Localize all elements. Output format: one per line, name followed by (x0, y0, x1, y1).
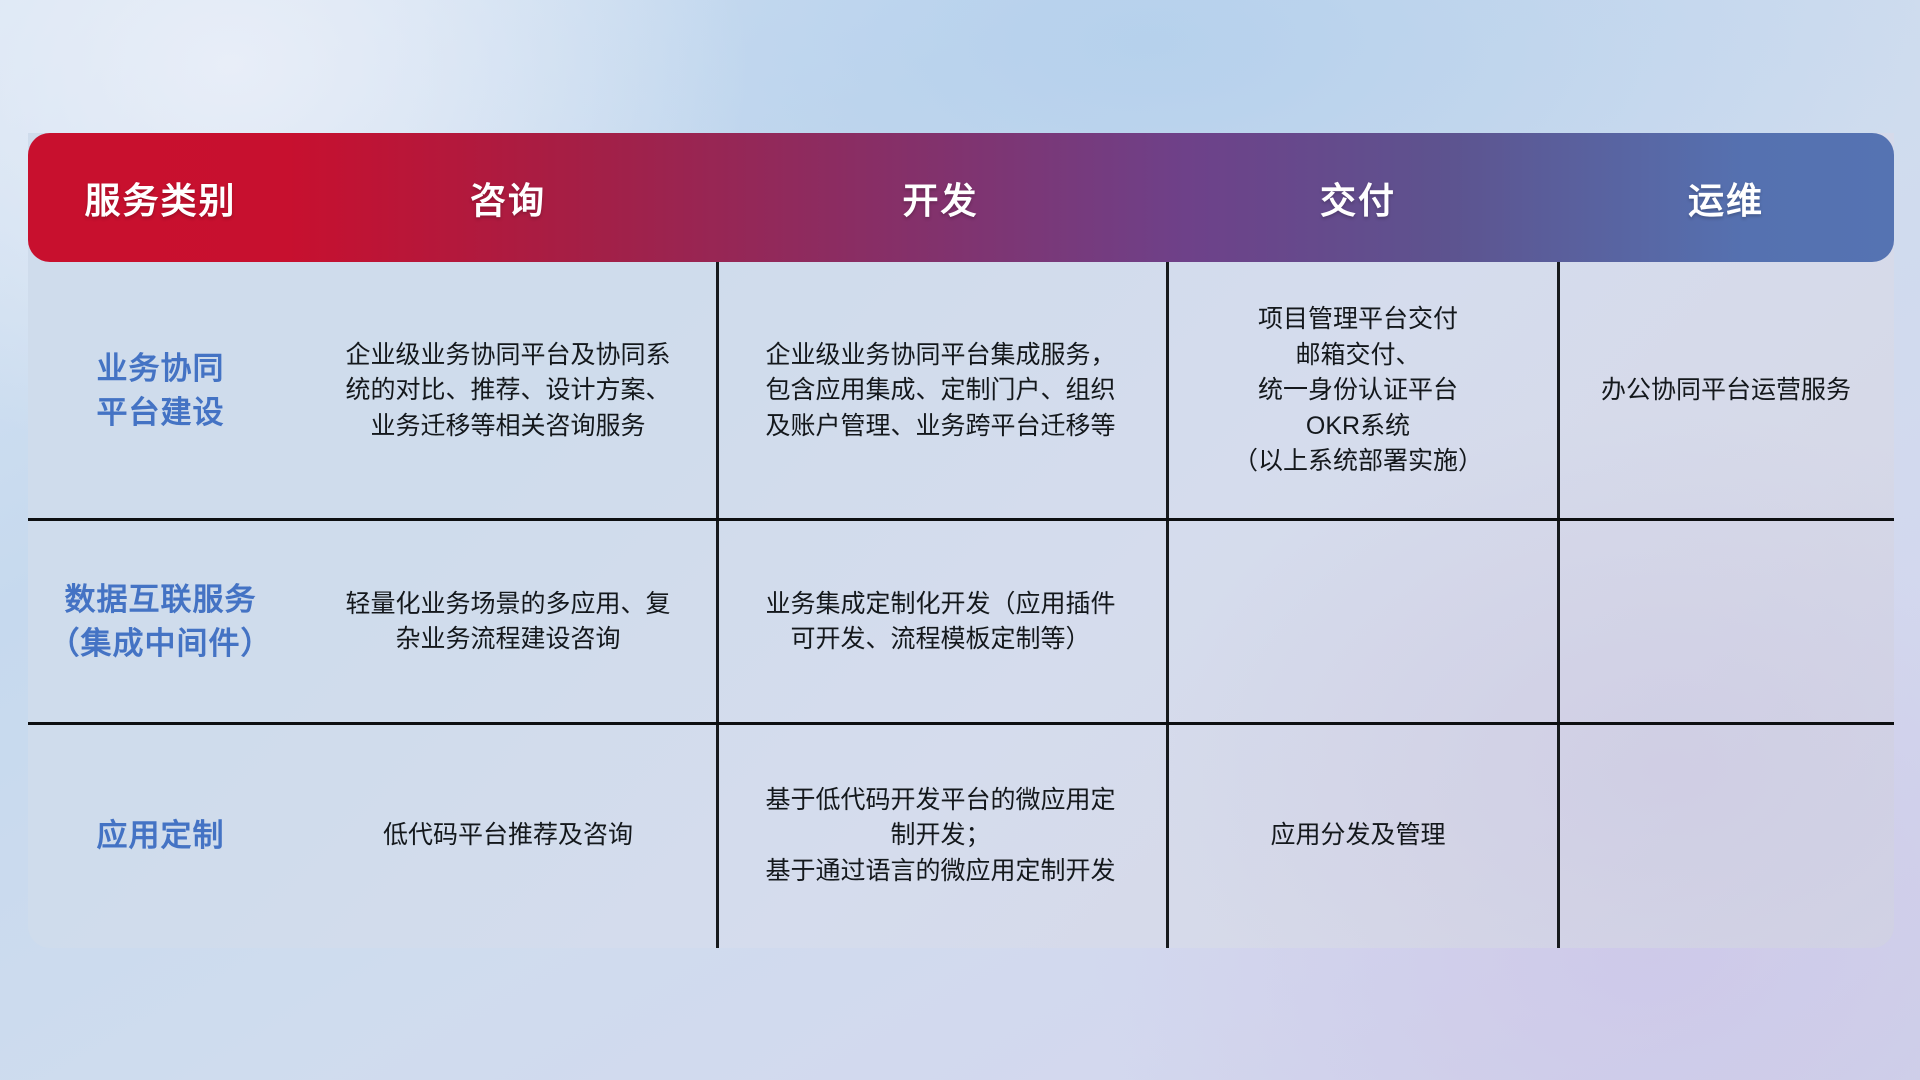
table-row: 应用定制 低代码平台推荐及咨询 基于低代码开发平台的微应用定 制开发； 基于通过… (28, 724, 1894, 948)
slide-canvas: 服务类别 咨询 开发 交付 运维 业务协同 平台建设 企业级业务协同平台及协同系… (0, 0, 1920, 1080)
column-divider-2 (716, 262, 719, 948)
cell-consulting: 低代码平台推荐及咨询 (293, 724, 723, 948)
row-category-label: 业务协同 平台建设 (28, 262, 293, 520)
cell-development: 基于低代码开发平台的微应用定 制开发； 基于通过语言的微应用定制开发 (723, 724, 1158, 948)
row-category-label: 数据互联服务 （集成中间件） (28, 520, 293, 724)
column-divider-4 (1557, 262, 1560, 948)
cell-consulting: 轻量化业务场景的多应用、复 杂业务流程建设咨询 (293, 520, 723, 724)
cell-operations: 办公协同平台运营服务 (1558, 262, 1894, 520)
column-header-operations: 运维 (1558, 172, 1894, 224)
cell-consulting: 企业级业务协同平台及协同系 统的对比、推荐、设计方案、 业务迁移等相关咨询服务 (293, 262, 723, 520)
cell-delivery (1158, 520, 1558, 724)
row-category-label: 应用定制 (28, 724, 293, 948)
row-divider-1 (28, 518, 1894, 521)
cell-development: 业务集成定制化开发（应用插件 可开发、流程模板定制等） (723, 520, 1158, 724)
cell-delivery: 项目管理平台交付 邮箱交付、 统一身份认证平台 OKR系统 （以上系统部署实施） (1158, 262, 1558, 520)
table-row: 数据互联服务 （集成中间件） 轻量化业务场景的多应用、复 杂业务流程建设咨询 业… (28, 520, 1894, 724)
cell-operations (1558, 520, 1894, 724)
table-header-row: 服务类别 咨询 开发 交付 运维 (28, 133, 1894, 262)
cell-development: 企业级业务协同平台集成服务， 包含应用集成、定制门户、组织 及账户管理、业务跨平… (723, 262, 1158, 520)
column-header-delivery: 交付 (1158, 172, 1558, 224)
table-body: 业务协同 平台建设 企业级业务协同平台及协同系 统的对比、推荐、设计方案、 业务… (28, 262, 1894, 948)
column-header-category: 服务类别 (28, 172, 293, 224)
column-divider-3 (1166, 262, 1169, 948)
cell-operations (1558, 724, 1894, 948)
row-divider-2 (28, 722, 1894, 725)
column-header-consulting: 咨询 (293, 172, 723, 224)
column-header-development: 开发 (723, 172, 1158, 224)
table-row: 业务协同 平台建设 企业级业务协同平台及协同系 统的对比、推荐、设计方案、 业务… (28, 262, 1894, 520)
cell-delivery: 应用分发及管理 (1158, 724, 1558, 948)
